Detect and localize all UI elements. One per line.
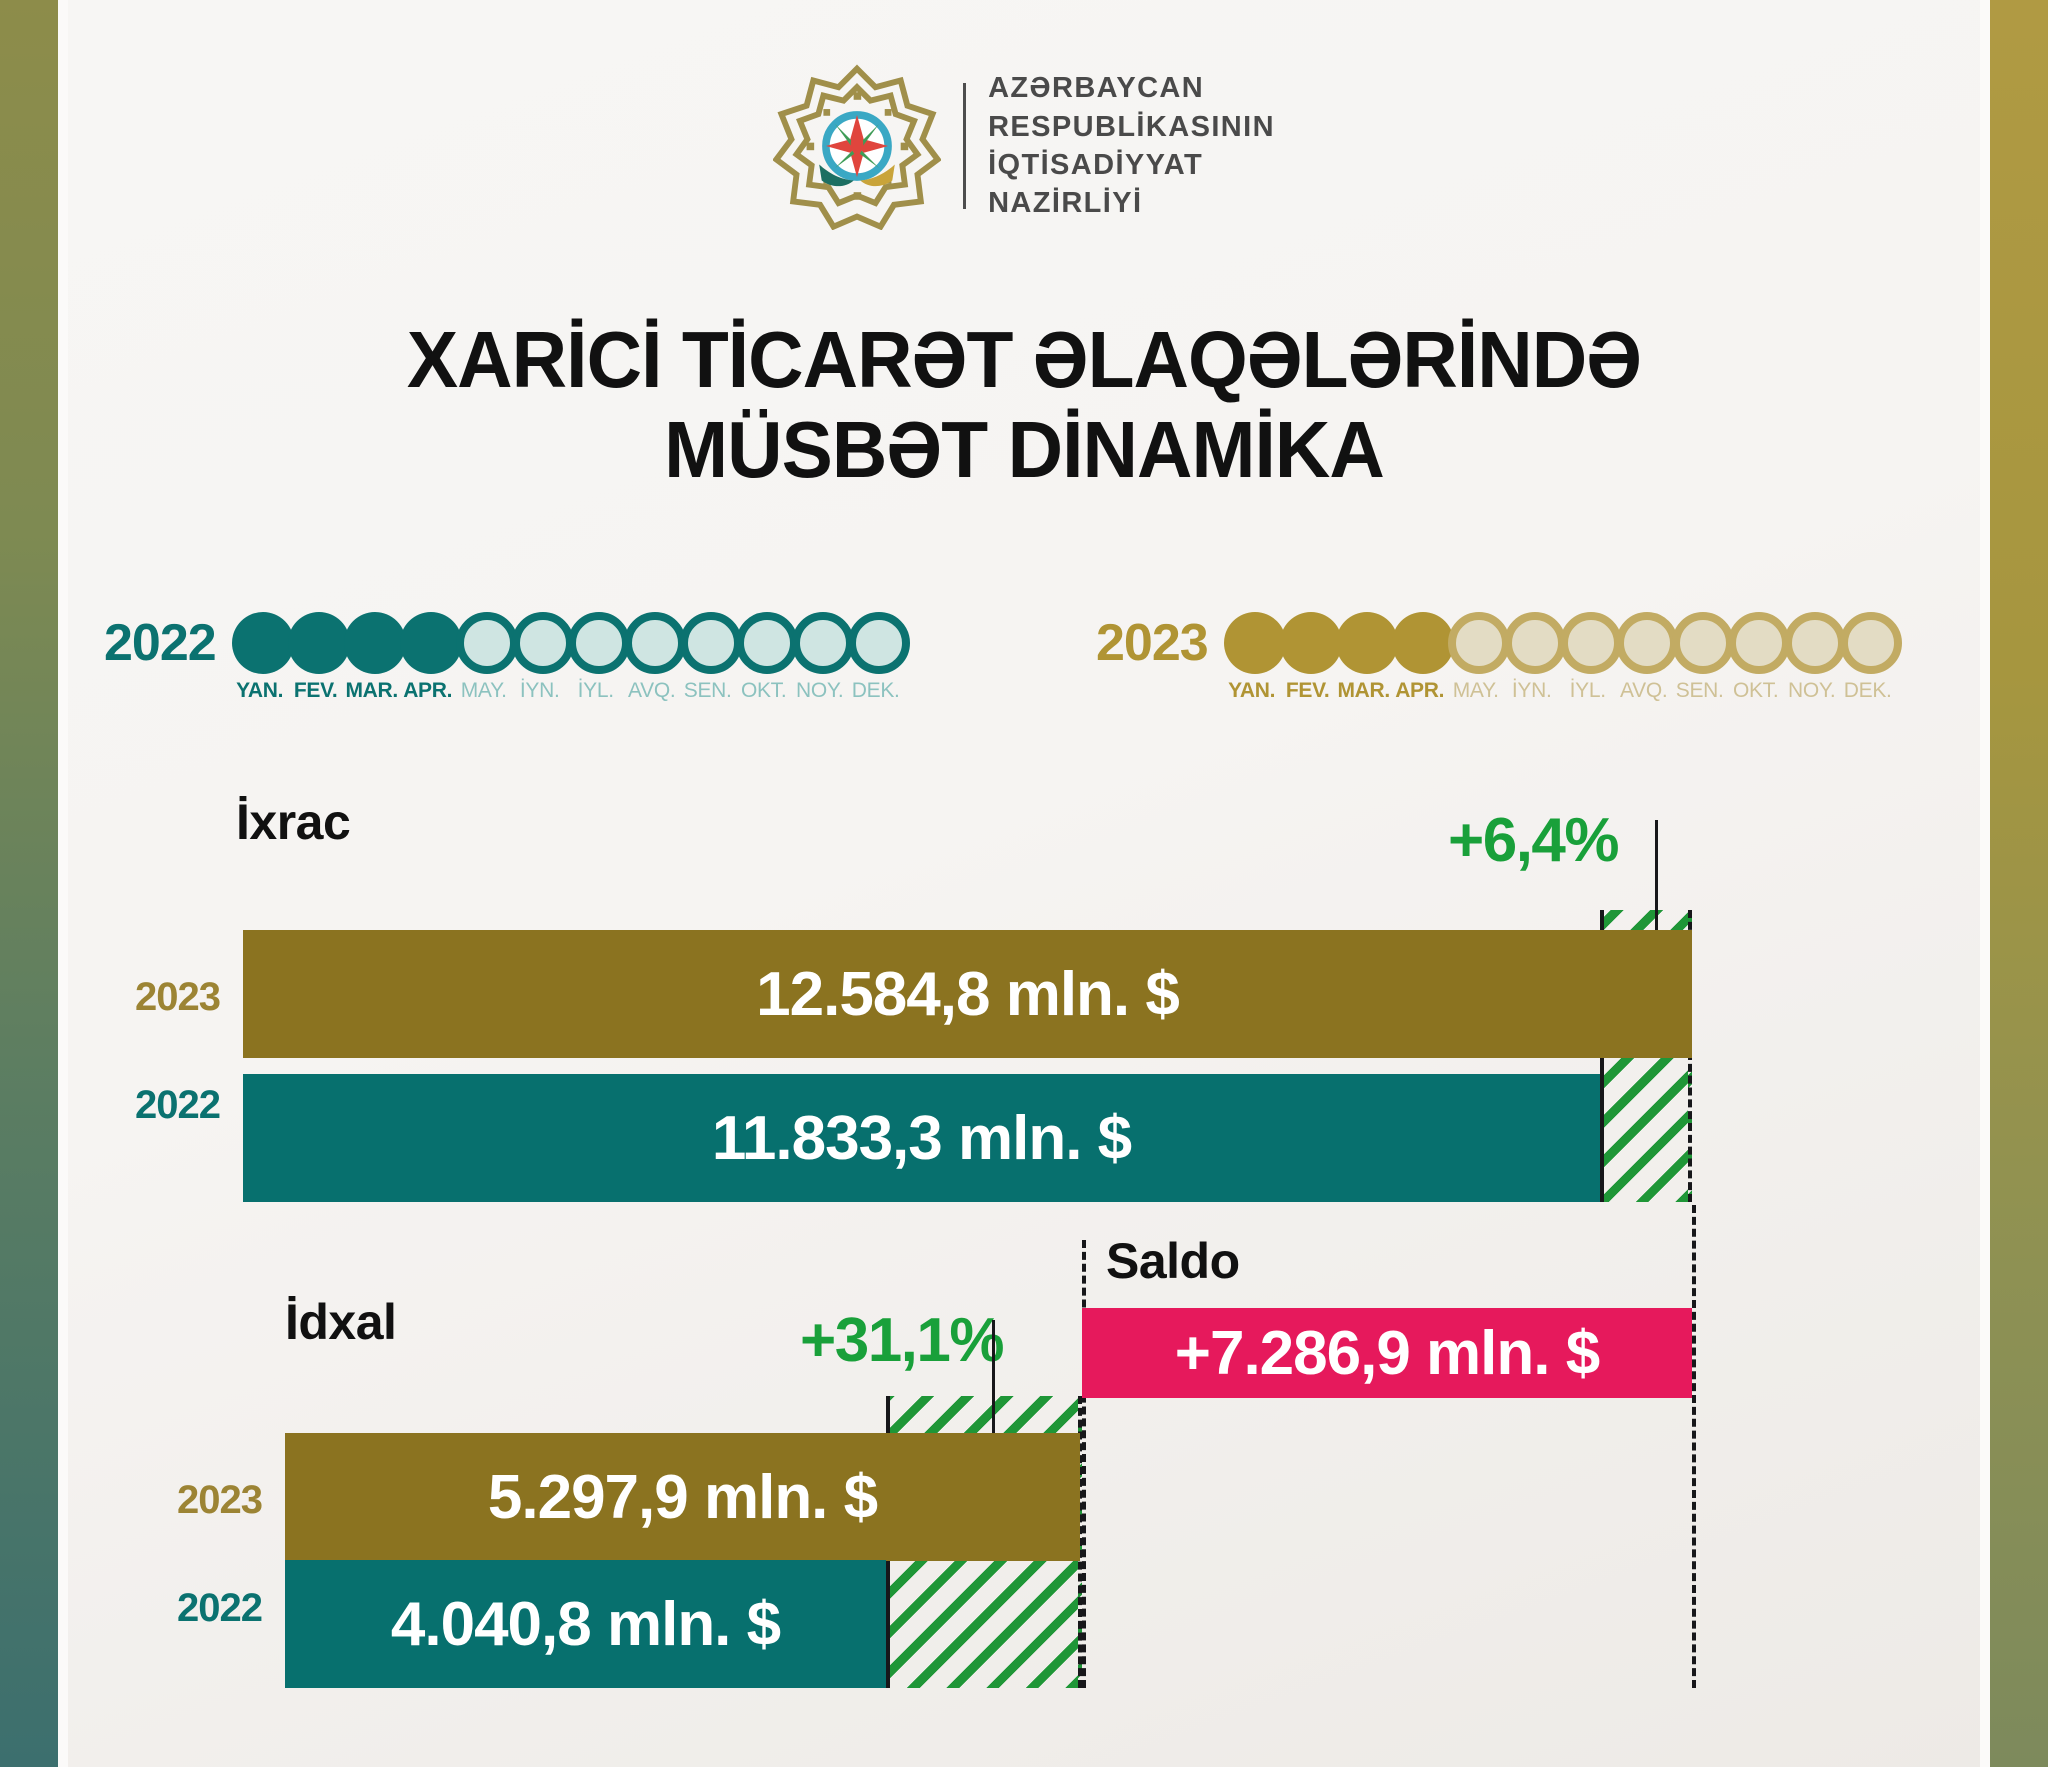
bar-value-idxal-2022: 4.040,8 mln. $ <box>391 1589 780 1660</box>
ministry-line-1: AZƏRBAYCAN <box>988 69 1275 107</box>
legend-dot-2023-i̇yl <box>1560 612 1622 674</box>
bar-value-idxal-2023: 5.297,9 mln. $ <box>488 1462 877 1533</box>
ministry-line-4: NAZİRLİYİ <box>988 184 1275 222</box>
bar-year-idxal-2022: 2022 <box>152 1586 262 1631</box>
legend-month-2022-i̇yn: İYN. <box>512 679 568 703</box>
legend-dot-2022-noy <box>792 612 854 674</box>
bar-ixrac-2023: 12.584,8 mln. $ <box>243 930 1692 1058</box>
legend-dot-2022-mar <box>344 612 406 674</box>
legend-month-2023-sen: SEN. <box>1672 679 1728 703</box>
right-border-gap <box>1980 0 1990 1767</box>
legend-month-2022-fev: FEV. <box>288 679 344 703</box>
legend-timeline-2023: 2023 YAN.FEV.MAR.APR.MAY.İYN.İYL.AVQ.SEN… <box>1096 612 1902 703</box>
legend-dots-2022 <box>232 612 910 674</box>
legend-month-2023-i̇yl: İYL. <box>1560 679 1616 703</box>
legend-dot-2022-avq <box>624 612 686 674</box>
infographic-canvas: AZƏRBAYCAN RESPUBLİKASININ İQTİSADİYYAT … <box>0 0 2048 1767</box>
bar-year-ixrac-2022: 2022 <box>110 1083 220 1128</box>
legend-dot-2023-may <box>1448 612 1510 674</box>
legend-dot-2022-apr <box>400 612 462 674</box>
legend-month-2022-i̇yl: İYL. <box>568 679 624 703</box>
legend-month-2022-dek: DEK. <box>848 679 904 703</box>
bar-idxal-2023: 5.297,9 mln. $ <box>285 1433 1080 1561</box>
saldo-right-guide <box>1692 1205 1696 1688</box>
decorative-left-border <box>0 0 58 1767</box>
legend-month-2023-may: MAY. <box>1448 679 1504 703</box>
bar-year-ixrac-2023: 2023 <box>110 975 220 1020</box>
bar-idxal-2022: 4.040,8 mln. $ <box>285 1560 886 1688</box>
legend-timeline-2022: 2022 YAN.FEV.MAR.APR.MAY.İYN.İYL.AVQ.SEN… <box>104 612 910 703</box>
legend-dot-2023-sen <box>1672 612 1734 674</box>
legend-month-2023-i̇yn: İYN. <box>1504 679 1560 703</box>
legend-year-2023: 2023 <box>1096 612 1208 674</box>
legend-dot-2023-mar <box>1336 612 1398 674</box>
legend-dot-2023-dek <box>1840 612 1902 674</box>
legend-dot-2023-yan <box>1224 612 1286 674</box>
legend-month-2022-avq: AVQ. <box>624 679 680 703</box>
legend-dot-2023-avq <box>1616 612 1678 674</box>
bar-ixrac-2022: 11.833,3 mln. $ <box>243 1074 1600 1202</box>
bar-saldo: +7.286,9 mln. $ <box>1082 1308 1692 1398</box>
ministry-line-3: İQTİSADİYYAT <box>988 146 1275 184</box>
legend-dot-2023-noy <box>1784 612 1846 674</box>
legend-month-2022-sen: SEN. <box>680 679 736 703</box>
legend-dot-2023-apr <box>1392 612 1454 674</box>
legend-dot-2022-dek <box>848 612 910 674</box>
ministry-line-2: RESPUBLİKASININ <box>988 108 1275 146</box>
legend-dots-2023 <box>1224 612 1902 674</box>
legend-dot-2023-i̇yn <box>1504 612 1566 674</box>
legend-dot-2023-fev <box>1280 612 1342 674</box>
page-title-line-1: XARİCİ TİCARƏT ƏLAQƏLƏRİNDƏ <box>41 315 2007 405</box>
legend-month-2022-may: MAY. <box>456 679 512 703</box>
legend-month-2022-mar: MAR. <box>344 679 400 703</box>
decorative-right-border <box>1990 0 2048 1767</box>
legend-month-2022-noy: NOY. <box>792 679 848 703</box>
legend-month-2022-okt: OKT. <box>736 679 792 703</box>
legend-month-labels-2023: YAN.FEV.MAR.APR.MAY.İYN.İYL.AVQ.SEN.OKT.… <box>1224 679 1902 703</box>
change-pct-idxal: +31,1% <box>800 1305 1003 1376</box>
legend-month-labels-2022: YAN.FEV.MAR.APR.MAY.İYN.İYL.AVQ.SEN.OKT.… <box>232 679 910 703</box>
left-border-gap <box>58 0 68 1767</box>
bar-value-ixrac-2023: 12.584,8 mln. $ <box>756 959 1179 1030</box>
page-title: XARİCİ TİCARƏT ƏLAQƏLƏRİNDƏ MÜSBƏT DİNAM… <box>41 315 2007 494</box>
logo-divider <box>963 83 966 209</box>
azerbaijan-state-emblem-icon <box>773 62 941 230</box>
legend-year-2022: 2022 <box>104 612 216 674</box>
legend-month-2023-mar: MAR. <box>1336 679 1392 703</box>
legend-dot-2022-may <box>456 612 518 674</box>
legend-dot-2022-fev <box>288 612 350 674</box>
legend-month-2022-yan: YAN. <box>232 679 288 703</box>
change-pct-ixrac: +6,4% <box>1448 805 1618 876</box>
legend-dot-2022-i̇yl <box>568 612 630 674</box>
legend-month-2023-yan: YAN. <box>1224 679 1280 703</box>
bar-value-saldo: +7.286,9 mln. $ <box>1175 1318 1599 1389</box>
legend-month-2022-apr: APR. <box>400 679 456 703</box>
legend-dot-2022-sen <box>680 612 742 674</box>
legend-month-2023-dek: DEK. <box>1840 679 1896 703</box>
bar-year-idxal-2023: 2023 <box>152 1478 262 1523</box>
group-label-saldo: Saldo <box>1106 1232 1240 1290</box>
legend-dot-2022-okt <box>736 612 798 674</box>
legend-month-2023-fev: FEV. <box>1280 679 1336 703</box>
bar-value-ixrac-2022: 11.833,3 mln. $ <box>712 1103 1131 1174</box>
legend-dot-2023-okt <box>1728 612 1790 674</box>
ministry-logo-block: AZƏRBAYCAN RESPUBLİKASININ İQTİSADİYYAT … <box>0 62 2048 230</box>
legend-month-2023-okt: OKT. <box>1728 679 1784 703</box>
legend-dot-2022-i̇yn <box>512 612 574 674</box>
page-title-line-2: MÜSBƏT DİNAMİKA <box>41 405 2007 495</box>
group-label-ixrac: İxrac <box>236 793 350 851</box>
legend-month-2023-apr: APR. <box>1392 679 1448 703</box>
legend-month-2023-noy: NOY. <box>1784 679 1840 703</box>
ministry-name: AZƏRBAYCAN RESPUBLİKASININ İQTİSADİYYAT … <box>988 69 1275 222</box>
group-label-idxal: İdxal <box>285 1293 396 1351</box>
legend-dot-2022-yan <box>232 612 294 674</box>
legend-month-2023-avq: AVQ. <box>1616 679 1672 703</box>
